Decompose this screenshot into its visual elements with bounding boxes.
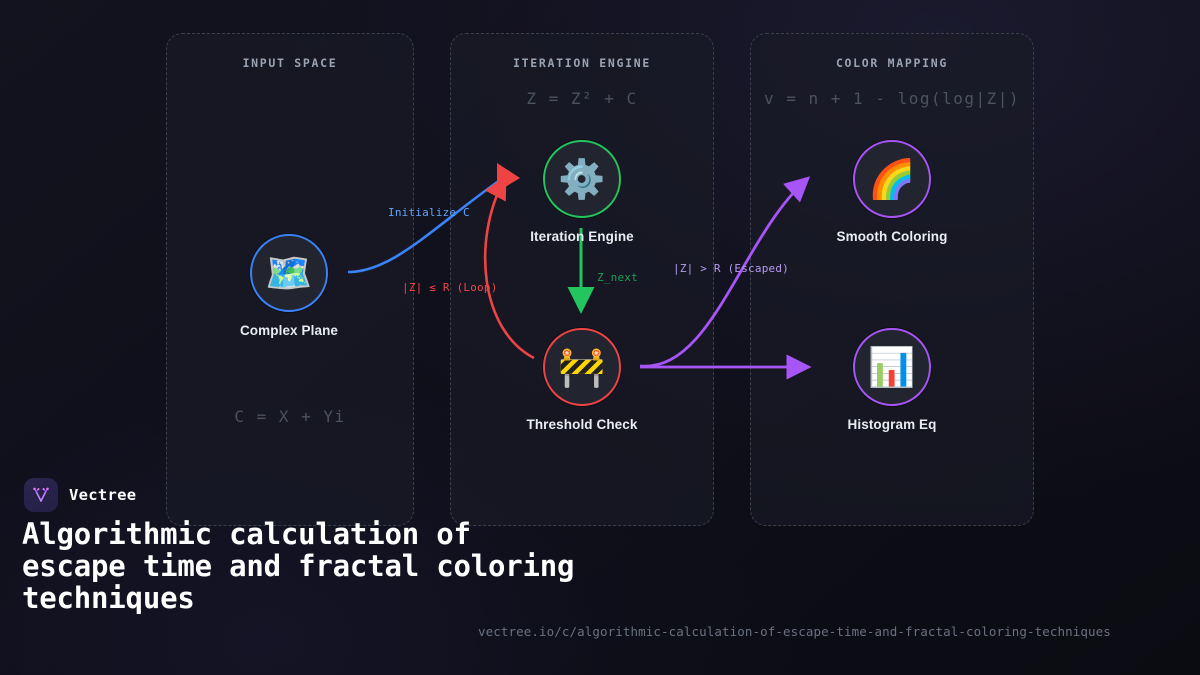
brand-name: Vectree [69, 486, 136, 504]
node-complex-plane-label: Complex Plane [219, 323, 359, 338]
node-threshold-check-label: Threshold Check [512, 417, 652, 432]
node-smooth-coloring[interactable]: 🌈 Smooth Coloring [822, 140, 962, 244]
poster-canvas: INPUT SPACE C = X + Yi ITERATION ENGINE … [0, 0, 1200, 675]
edge-label-loop: |Z| ≤ R (Loop) [402, 281, 498, 294]
edge-label-initialize-c: Initialize C [388, 206, 470, 219]
edge-initialize-c [348, 180, 500, 272]
brand: Vectree [24, 478, 136, 512]
node-iteration-engine[interactable]: ⚙️ Iteration Engine [512, 140, 652, 244]
node-iteration-engine-circle: ⚙️ [543, 140, 621, 218]
gear-icon: ⚙️ [558, 160, 605, 198]
node-smooth-coloring-label: Smooth Coloring [822, 229, 962, 244]
node-smooth-coloring-circle: 🌈 [853, 140, 931, 218]
rainbow-icon: 🌈 [868, 160, 915, 198]
node-histogram-eq[interactable]: 📊 Histogram Eq [822, 328, 962, 432]
node-complex-plane[interactable]: 🗺️ Complex Plane [219, 234, 359, 338]
bar-chart-icon: 📊 [868, 348, 915, 386]
node-threshold-check[interactable]: 🚧 Threshold Check [512, 328, 652, 432]
edge-label-z-next: Z_next [597, 271, 638, 284]
vectree-logo [24, 478, 58, 512]
node-histogram-eq-label: Histogram Eq [822, 417, 962, 432]
page-title: Algorithmic calculation of escape time a… [22, 518, 582, 615]
node-iteration-engine-label: Iteration Engine [512, 229, 652, 244]
footer-url: vectree.io/c/algorithmic-calculation-of-… [478, 624, 1111, 639]
node-threshold-check-circle: 🚧 [543, 328, 621, 406]
edge-label-escaped: |Z| > R (Escaped) [673, 262, 789, 275]
node-complex-plane-circle: 🗺️ [250, 234, 328, 312]
vectree-tree-logo-icon [31, 485, 51, 505]
node-histogram-eq-circle: 📊 [853, 328, 931, 406]
barrier-icon: 🚧 [558, 348, 605, 386]
map-icon: 🗺️ [265, 254, 312, 292]
